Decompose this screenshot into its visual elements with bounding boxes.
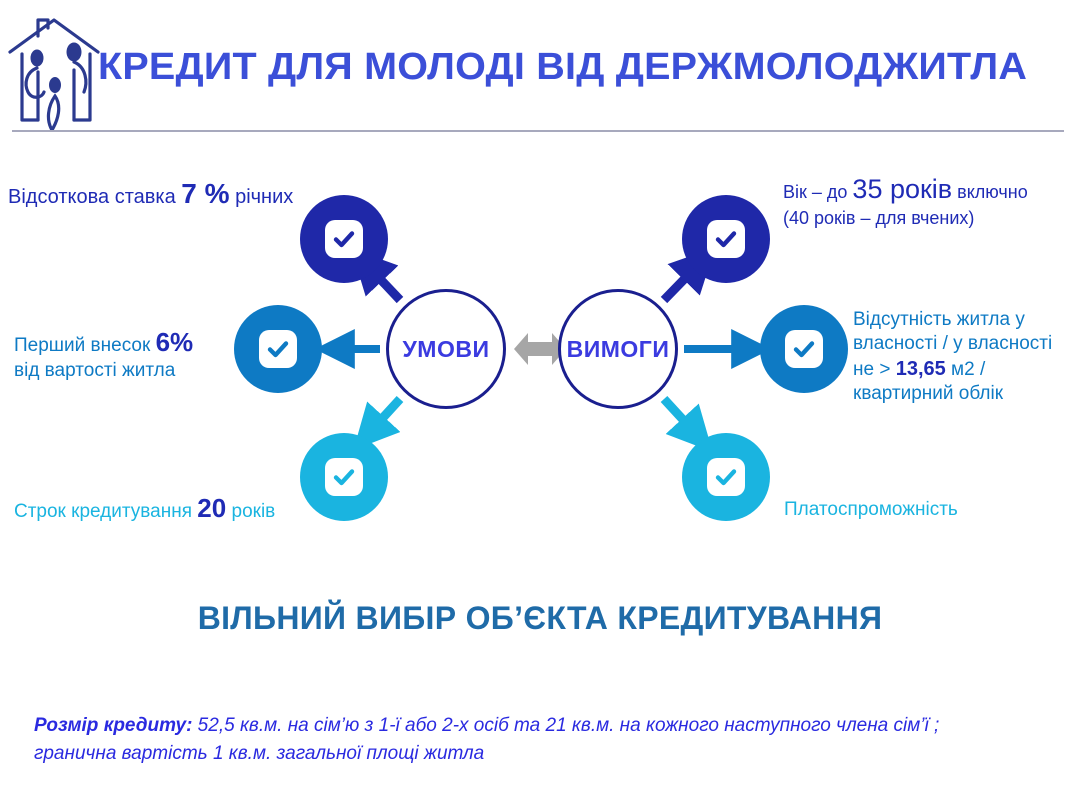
infographic-slide: КРЕДИТ ДЛЯ МОЛОДІ ВІД ДЕРЖМОЛОДЖИТЛА Від…: [0, 0, 1080, 810]
house-family-logo: [4, 12, 108, 132]
check-mark-icon: [707, 458, 745, 496]
node-down-payment[interactable]: [234, 305, 322, 393]
arrow-connectors: [0, 150, 1080, 560]
section-headline: ВІЛЬНИЙ ВИБІР ОБ’ЄКТА КРЕДИТУВАННЯ: [0, 600, 1080, 637]
footer-line2: гранична вартість 1 кв.м. загальної площ…: [34, 743, 484, 764]
hub-requirements-label: ВИМОГИ: [567, 336, 670, 363]
node-loan-term[interactable]: [300, 433, 388, 521]
footer-label: Розмір кредиту:: [34, 715, 192, 736]
hub-conditions-label: УМОВИ: [403, 336, 490, 363]
check-mark-icon: [707, 220, 745, 258]
node-solvency[interactable]: [682, 433, 770, 521]
page-title: КРЕДИТ ДЛЯ МОЛОДІ ВІД ДЕРЖМОЛОДЖИТЛА: [98, 46, 1080, 89]
check-mark-icon: [325, 458, 363, 496]
diagram-area: УМОВИ ВИМОГИ: [0, 150, 1080, 560]
footer-line1: 52,5 кв.м. на сім’ю з 1-ї або 2-х осіб т…: [192, 715, 939, 736]
node-interest-rate[interactable]: [300, 195, 388, 283]
check-mark-icon: [785, 330, 823, 368]
hub-conditions[interactable]: УМОВИ: [386, 289, 506, 409]
check-mark-icon: [259, 330, 297, 368]
footer-note: Розмір кредиту: 52,5 кв.м. на сім’ю з 1-…: [34, 712, 1054, 767]
check-mark-icon: [325, 220, 363, 258]
node-age[interactable]: [682, 195, 770, 283]
header-divider: [12, 130, 1064, 132]
node-no-housing[interactable]: [760, 305, 848, 393]
hub-requirements[interactable]: ВИМОГИ: [558, 289, 678, 409]
